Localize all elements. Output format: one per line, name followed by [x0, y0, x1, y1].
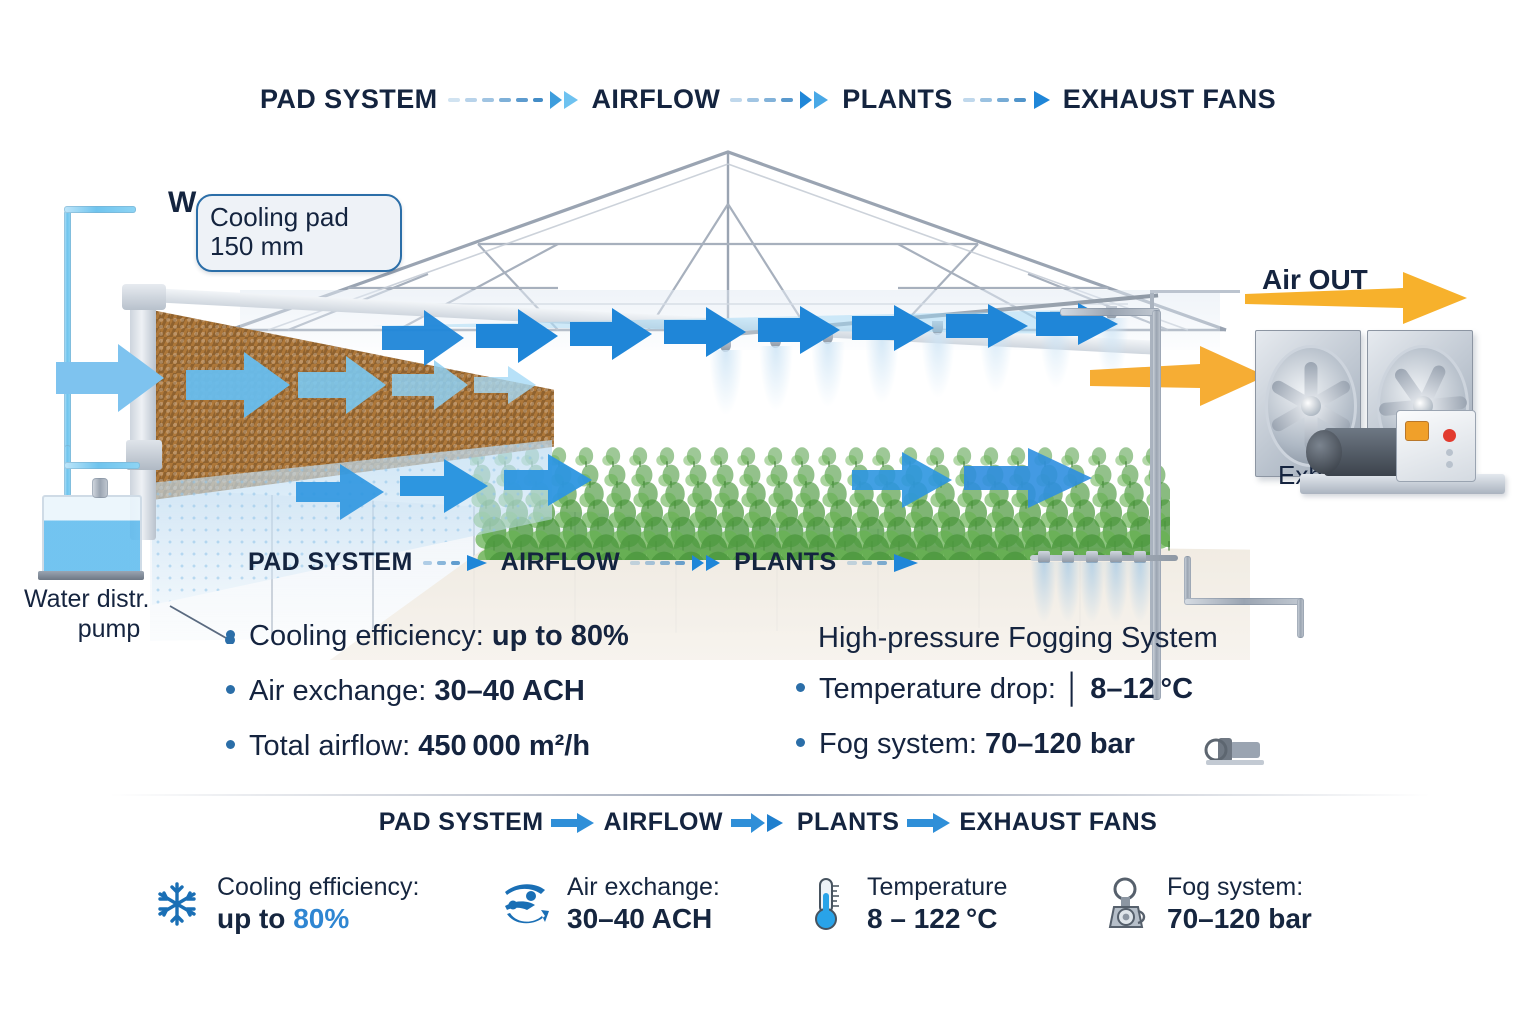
flow-banner-bottom: PAD SYSTEM AIRFLOW PLANTS EXHAUST FANS — [0, 808, 1536, 837]
air-exchange-icon — [500, 874, 554, 934]
bullet-icon — [796, 683, 805, 692]
bullet-icon — [226, 685, 235, 694]
flow-step-airflow: AIRFLOW — [501, 548, 620, 577]
airflow-arrow-upper-band — [372, 300, 1172, 372]
flow-step-pad-system: PAD SYSTEM — [379, 808, 544, 837]
chevron-icon — [465, 553, 491, 573]
spec-label: Fog system: — [819, 728, 985, 760]
summary-value-accent: 80% — [293, 903, 349, 934]
pad-system-spec-list: Cooling efficiency: up to 80% Air exchan… — [226, 620, 746, 785]
water-pump-label-line1: Water distr. — [24, 585, 150, 613]
arrow-icon-3 — [907, 812, 951, 834]
water-return-pipe-h — [64, 462, 140, 469]
spec-value: 450 000 m²/h — [418, 730, 590, 762]
dashed-arrow-3 — [847, 552, 922, 574]
flow-step-pad-system: PAD SYSTEM — [248, 548, 413, 577]
dashed-arrow-1 — [423, 553, 491, 573]
airflow-arrow-lower-band — [292, 440, 1172, 520]
dashed-arrow-2 — [630, 553, 724, 573]
water-inlet-label: W — [168, 186, 196, 220]
fogging-system-title: High-pressure Fogging System — [818, 622, 1218, 655]
arrow-icon-1 — [551, 812, 595, 834]
spec-item: Air exchange: 30–40 ACH — [226, 675, 746, 708]
section-divider — [110, 794, 1430, 796]
flow-step-exhaust-fans: EXHAUST FANS — [959, 808, 1157, 837]
flow-step-plants: PLANTS — [842, 84, 952, 115]
summary-item-cooling-efficiency: Cooling efficiency: up to 80% — [150, 872, 500, 936]
fog-feed-pipe-top — [1060, 308, 1160, 316]
spec-label: Total airflow: — [249, 730, 418, 762]
end-wall-beam — [1150, 290, 1240, 293]
summary-value: 70–120 bar — [1167, 903, 1312, 934]
air-out-label: Air OUT — [1262, 264, 1368, 296]
spec-item: Cooling efficiency: up to 80% — [226, 620, 746, 653]
fog-pump-inline-icon — [1204, 730, 1270, 770]
summary-item-fog-system: Fog system: 70–120 bar — [1100, 872, 1410, 936]
chevron-icon — [892, 552, 922, 574]
cooling-pad-callout-line2: 150 mm — [210, 232, 388, 261]
flow-banner-top: PAD SYSTEM AIRFLOW PLANTS EXHAUST FANS — [0, 84, 1536, 115]
summary-caption: Air exchange: — [567, 872, 720, 902]
summary-caption: Temperature — [867, 872, 1007, 902]
dashed-arrow-3 — [963, 89, 1053, 111]
summary-value: up to — [217, 903, 293, 934]
summary-item-temperature: Temperature 8 – 122 °C — [800, 872, 1100, 936]
bullet-icon — [226, 630, 235, 639]
water-supply-pipe-top — [64, 206, 136, 213]
exhaust-fan-unit — [1255, 330, 1475, 475]
airflow-arrow-inlet — [56, 340, 166, 416]
spec-label: Temperature drop: │ — [819, 673, 1090, 705]
fan-blades-1 — [1265, 345, 1357, 467]
spec-value: up to 80% — [492, 620, 629, 652]
flow-banner-middle: PAD SYSTEM AIRFLOW PLANTS — [248, 548, 932, 577]
cooling-pad-callout-line1: Cooling pad — [210, 203, 388, 232]
spec-value: 70–120 bar — [985, 728, 1135, 760]
spec-item: Total airflow: 450 000 m²/h — [226, 730, 746, 763]
double-chevron-icon — [690, 553, 724, 573]
fog-pump-icon — [1100, 874, 1154, 934]
infographic-canvas: PAD SYSTEM AIRFLOW PLANTS EXHAUST FANS — [0, 0, 1536, 1024]
flow-step-airflow: AIRFLOW — [603, 808, 722, 837]
water-tank-base — [38, 571, 144, 580]
summary-item-air-exchange: Air exchange: 30–40 ACH — [500, 872, 800, 936]
snowflake-icon — [150, 874, 204, 934]
double-chevron-icon — [798, 89, 832, 111]
pad-cap — [122, 284, 166, 310]
spec-item: Temperature drop: │ 8–12 °C — [796, 673, 1276, 706]
distribution-pump-body — [92, 478, 108, 498]
exhaust-fans-label: Exhaust Fans — [1278, 460, 1437, 491]
summary-value: 8 – 122 °C — [867, 903, 997, 934]
cooling-pad-callout: Cooling pad 150 mm — [196, 194, 402, 272]
double-chevron-icon — [548, 89, 582, 111]
thermometer-icon — [800, 874, 854, 934]
fan-blades-2 — [1377, 345, 1469, 467]
arrow-icon-2 — [731, 812, 789, 834]
flow-step-airflow: AIRFLOW — [592, 84, 721, 115]
chevron-icon — [1031, 89, 1053, 111]
spec-value: 8–12 °C — [1090, 673, 1193, 705]
dashed-arrow-1 — [448, 89, 582, 111]
air-out-arrow-through-wall — [1090, 340, 1270, 410]
flow-step-exhaust-fans: EXHAUST FANS — [1063, 84, 1276, 115]
bullet-icon — [796, 738, 805, 747]
exhaust-fan-1 — [1255, 330, 1361, 477]
flow-step-pad-system: PAD SYSTEM — [260, 84, 438, 115]
summary-caption: Cooling efficiency: — [217, 872, 419, 902]
spec-value: 30–40 ACH — [434, 675, 584, 707]
summary-value: 30–40 ACH — [567, 903, 712, 934]
spec-label: Air exchange: — [249, 675, 434, 707]
exhaust-fan-2 — [1367, 330, 1473, 477]
spec-label: Cooling efficiency: — [249, 620, 492, 652]
summary-caption: Fog system: — [1167, 872, 1312, 902]
dashed-arrow-2 — [730, 89, 832, 111]
bullet-icon — [226, 740, 235, 749]
flow-step-plants: PLANTS — [734, 548, 836, 577]
water-tank — [42, 495, 142, 577]
summary-stats-row: Cooling efficiency: up to 80% Air exchan… — [150, 872, 1410, 936]
water-return-pipe — [64, 445, 71, 497]
flow-step-plants: PLANTS — [797, 808, 899, 837]
